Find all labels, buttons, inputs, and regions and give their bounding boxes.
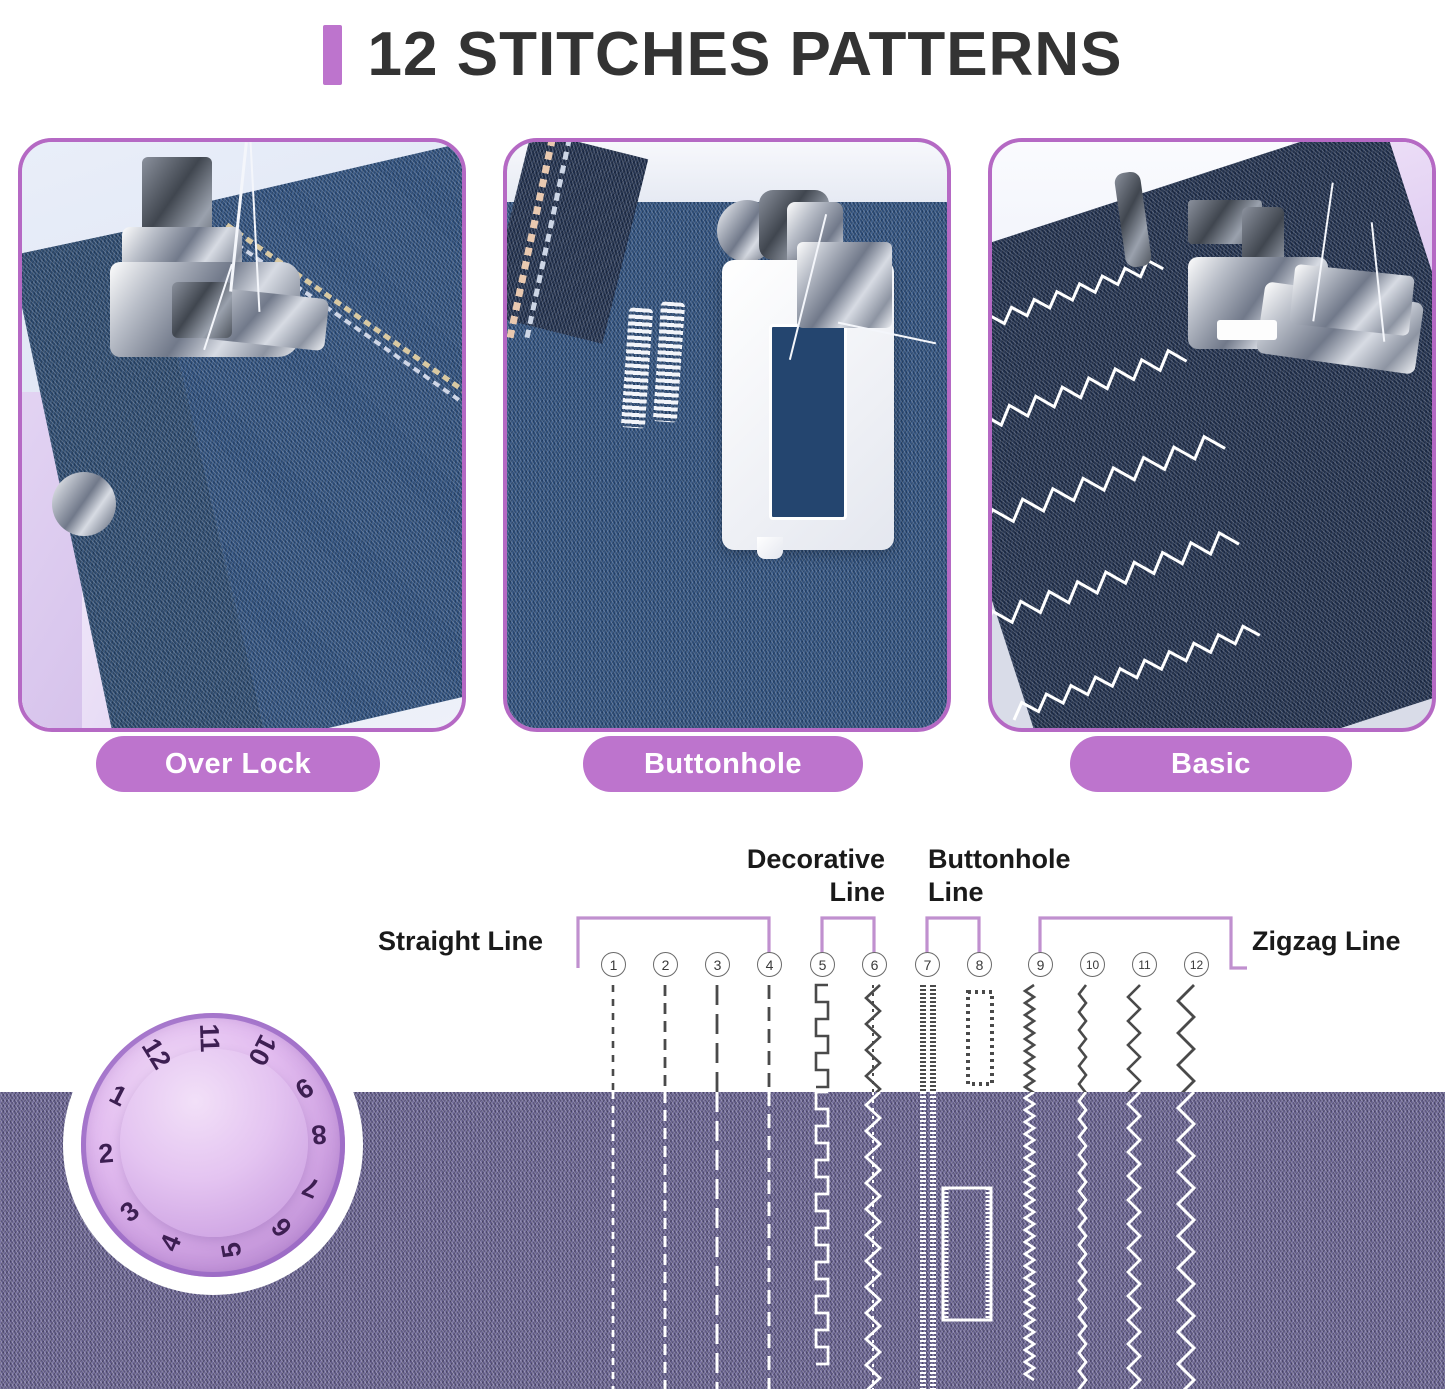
over-lock-photo bbox=[22, 142, 462, 728]
caption-label: Basic bbox=[1171, 748, 1251, 781]
stitch-pattern-11 bbox=[1128, 985, 1140, 1092]
dial-number-11: 11 bbox=[193, 1023, 225, 1053]
fabric-stitch-10 bbox=[1079, 1092, 1086, 1389]
caption-pill-basic: Basic bbox=[1070, 736, 1352, 792]
photo-card-basic bbox=[988, 138, 1436, 732]
page-title: 12 STITCHES PATTERNS bbox=[368, 24, 1123, 86]
dial-center-face bbox=[120, 1049, 308, 1237]
title-accent-bar bbox=[323, 25, 342, 85]
caption-pill-buttonhole: Buttonhole bbox=[583, 736, 863, 792]
fabric-stitch-9 bbox=[1025, 1092, 1034, 1380]
fabric-stitch-11 bbox=[1128, 1092, 1140, 1389]
fabric-stitch-5 bbox=[816, 1092, 828, 1364]
stitch-pattern-12 bbox=[1178, 985, 1194, 1092]
basic-photo bbox=[992, 142, 1432, 728]
photo-card-over-lock bbox=[18, 138, 466, 732]
buttonhole-photo bbox=[507, 142, 947, 728]
stitch-pattern-9 bbox=[1025, 985, 1034, 1092]
caption-pill-over-lock: Over Lock bbox=[96, 736, 380, 792]
page-title-row: 12 STITCHES PATTERNS bbox=[0, 0, 1445, 110]
stitch-pattern-5 bbox=[816, 985, 828, 1087]
fabric-stitch-8-outline bbox=[943, 1188, 991, 1320]
stitch-pattern-8 bbox=[968, 992, 992, 1084]
caption-label: Buttonhole bbox=[644, 748, 802, 781]
dial-number-2: 2 bbox=[98, 1138, 116, 1170]
caption-label: Over Lock bbox=[165, 748, 311, 781]
photo-card-buttonhole bbox=[503, 138, 951, 732]
stitch-selector-dial[interactable]: 1 2 3 4 5 6 7 8 9 10 11 12 bbox=[63, 995, 363, 1295]
fabric-stitch-6 bbox=[866, 1092, 880, 1389]
stitch-pattern-10 bbox=[1079, 985, 1086, 1092]
fabric-stitch-12 bbox=[1178, 1092, 1194, 1389]
